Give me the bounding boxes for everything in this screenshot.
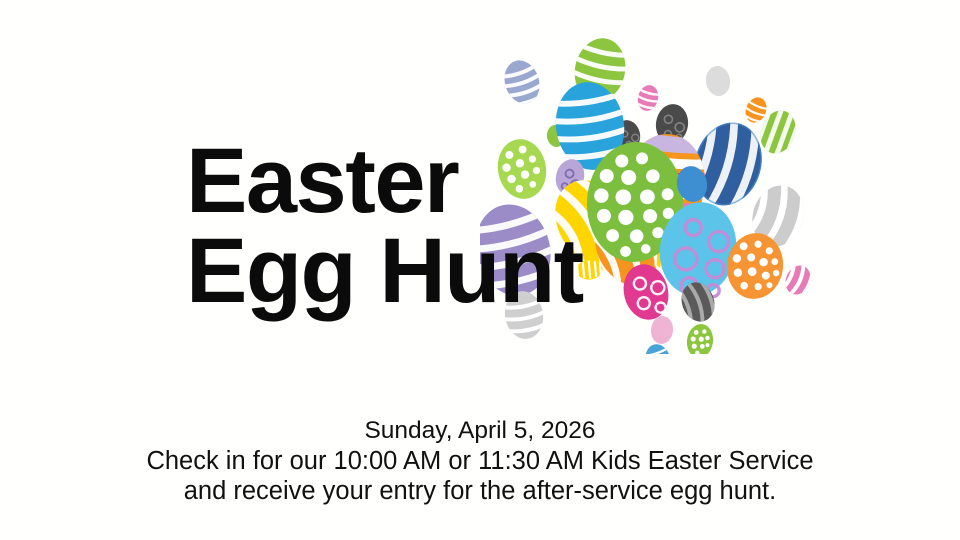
event-entry-instructions: and receive your entry for the after-ser… [0, 476, 960, 506]
egg-green-polkadot-low [685, 322, 715, 354]
title-line-egg-hunt: Egg Hunt [186, 226, 583, 316]
event-checkin-instructions: Check in for our 10:00 AM or 11:30 AM Ki… [0, 446, 960, 476]
egg-pink-striped-right [778, 258, 818, 302]
event-details-block: Sunday, April 5, 2026 Check in for our 1… [0, 416, 960, 506]
egg-pink-solid-low [650, 315, 675, 345]
title-line-easter: Easter [186, 136, 583, 226]
egg-periwinkle-striped-top [496, 55, 548, 110]
egg-pink-striped-small-top [633, 82, 663, 113]
egg-gray-solid-top [704, 64, 732, 97]
event-date: Sunday, April 5, 2026 [0, 416, 960, 446]
easter-egg-hunt-slide: Easter Egg Hunt Sunday, April 5, 2026 Ch… [0, 0, 960, 540]
page-title: Easter Egg Hunt [186, 136, 583, 316]
